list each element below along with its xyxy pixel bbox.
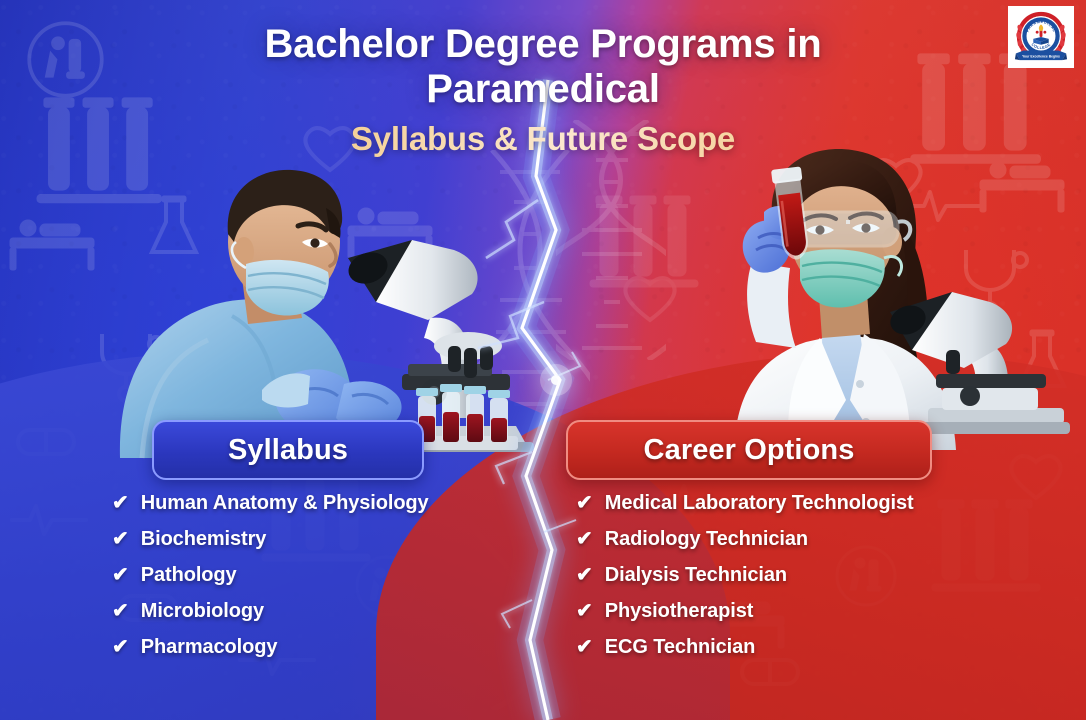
title-line-1: Bachelor Degree Programs in	[264, 22, 821, 66]
list-item: ✔ Physiotherapist	[576, 600, 1026, 626]
list-item: ✔ Radiology Technician	[576, 528, 1026, 554]
check-icon: ✔	[576, 493, 593, 513]
list-item: ✔ Medical Laboratory Technologist	[576, 492, 1026, 518]
check-icon: ✔	[576, 529, 593, 549]
list-item: ✔ Human Anatomy & Physiology	[112, 492, 532, 518]
syllabus-banner-label: Syllabus	[228, 434, 348, 467]
list-item-label: ECG Technician	[605, 636, 756, 659]
check-icon: ✔	[112, 493, 129, 513]
list-item-label: Human Anatomy & Physiology	[141, 492, 429, 515]
list-item: ✔ Pathology	[112, 564, 532, 590]
list-item-label: Radiology Technician	[605, 528, 808, 551]
paramedical-infographic-poster: Bachelor Degree Programs in Paramedical …	[0, 0, 1086, 720]
check-icon: ✔	[576, 601, 593, 621]
list-item-label: Pharmacology	[141, 636, 278, 659]
headline-block: Bachelor Degree Programs in Paramedical …	[0, 22, 1086, 158]
list-item-label: Physiotherapist	[605, 600, 754, 623]
list-item-label: Microbiology	[141, 600, 264, 623]
syllabus-banner[interactable]: Syllabus	[152, 420, 424, 480]
page-subtitle: Syllabus & Future Scope	[0, 120, 1086, 158]
college-logo[interactable]: PARAMEDICAL COLLEGE Your Excellence Begi…	[1008, 6, 1074, 68]
page-title: Bachelor Degree Programs in Paramedical	[0, 22, 1086, 112]
list-item: ✔ Dialysis Technician	[576, 564, 1026, 590]
check-icon: ✔	[576, 565, 593, 585]
title-line-2: Paramedical	[426, 67, 660, 111]
career-options-banner-label: Career Options	[644, 434, 855, 467]
check-icon: ✔	[112, 529, 129, 549]
check-icon: ✔	[112, 601, 129, 621]
career-options-banner[interactable]: Career Options	[566, 420, 932, 480]
paramedical-college-emblem-icon: PARAMEDICAL COLLEGE Your Excellence Begi…	[1012, 9, 1070, 65]
career-options-list: ✔ Medical Laboratory Technologist ✔ Radi…	[576, 492, 1026, 672]
list-item: ✔ Biochemistry	[112, 528, 532, 554]
list-item: ✔ ECG Technician	[576, 636, 1026, 662]
list-item: ✔ Microbiology	[112, 600, 532, 626]
list-item-label: Biochemistry	[141, 528, 267, 551]
list-item-label: Pathology	[141, 564, 237, 587]
check-icon: ✔	[112, 637, 129, 657]
svg-text:Your Excellence Begins: Your Excellence Begins	[1022, 54, 1060, 58]
list-item-label: Medical Laboratory Technologist	[605, 492, 914, 515]
check-icon: ✔	[576, 637, 593, 657]
syllabus-list: ✔ Human Anatomy & Physiology ✔ Biochemis…	[112, 492, 532, 672]
check-icon: ✔	[112, 565, 129, 585]
list-item: ✔ Pharmacology	[112, 636, 532, 662]
list-item-label: Dialysis Technician	[605, 564, 787, 587]
